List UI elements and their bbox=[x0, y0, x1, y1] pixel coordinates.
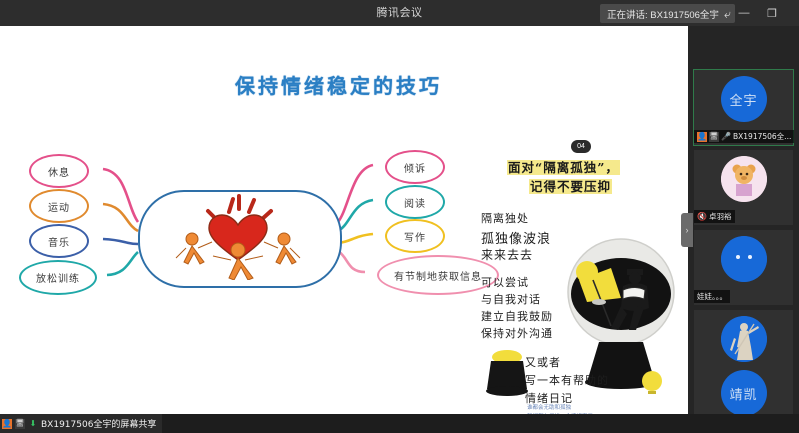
article-note-line0: 谁都会无助和孤独 bbox=[527, 404, 571, 412]
participant-tile-1[interactable]: 🔇 卓羽裕 bbox=[694, 150, 793, 225]
branch-label: 倾诉 bbox=[404, 160, 426, 175]
avatar bbox=[721, 236, 767, 282]
avatar bbox=[721, 156, 767, 202]
minimize-button[interactable]: — bbox=[731, 0, 757, 26]
participant-nametag: 👤 🖥 🎤 BX1917506全... bbox=[694, 130, 794, 143]
article-block1-line1: 孤独像波浪 bbox=[481, 228, 551, 247]
mindmap-slide: 保持情绪稳定的技巧 bbox=[7, 32, 681, 408]
taskbar-share-item[interactable]: 👤 🖥 ⬇ BX1917506全宇的屏幕共享 bbox=[0, 414, 162, 433]
participants-sidebar: 全宇 👤 🖥 🎤 BX1917506全... bbox=[688, 26, 799, 414]
small-bulb-icon bbox=[641, 370, 663, 396]
participant-tile-0[interactable]: 全宇 👤 🖥 🎤 BX1917506全... bbox=[694, 70, 793, 145]
reply-arrow-icon[interactable]: ⤷ bbox=[724, 8, 731, 20]
branch-label: 写作 bbox=[404, 229, 426, 244]
speaking-label: 正在讲话: BX1917506全宇 bbox=[607, 7, 719, 21]
chevron-right-icon: › bbox=[686, 225, 689, 235]
avatar: 靖凯 bbox=[721, 370, 767, 416]
participant-nametag: 娃娃。。。 bbox=[694, 290, 730, 303]
participant-tile-2[interactable]: 娃娃。。。 bbox=[694, 230, 793, 305]
branch-bubble-left-0[interactable]: 休息 bbox=[29, 154, 89, 188]
branch-bubble-right-2[interactable]: 写作 bbox=[385, 219, 445, 253]
face-avatar-icon bbox=[721, 236, 767, 282]
branch-bubble-left-1[interactable]: 运动 bbox=[29, 189, 89, 223]
avatar: 全宇 bbox=[721, 76, 767, 122]
participant-nametag: 🔇 卓羽裕 bbox=[694, 210, 735, 223]
small-lamp-icon bbox=[483, 347, 531, 399]
tencent-meeting-window: 腾讯会议 正在讲话: BX1917506全宇 ⤷ — ❐ 保持情绪稳定的技巧 bbox=[0, 0, 799, 433]
host-icon: 👤 bbox=[697, 132, 707, 142]
article-block3-line0: 又或者 bbox=[525, 354, 561, 370]
branch-label: 有节制地获取信息 bbox=[394, 268, 482, 283]
speaking-indicator[interactable]: 正在讲话: BX1917506全宇 ⤷ bbox=[600, 4, 735, 23]
branch-bubble-right-1[interactable]: 阅读 bbox=[385, 185, 445, 219]
mic-off-icon: 🔇 bbox=[697, 212, 707, 222]
participant-name: 娃娃。。。 bbox=[697, 291, 727, 302]
shared-screen-stage: 保持情绪稳定的技巧 bbox=[0, 26, 688, 414]
avatar bbox=[721, 316, 767, 362]
statue-avatar-icon bbox=[721, 316, 767, 362]
branch-bubble-right-0[interactable]: 倾诉 bbox=[385, 150, 445, 184]
participant-name: BX1917506全... bbox=[733, 131, 791, 142]
branch-label: 休息 bbox=[48, 164, 70, 179]
taskbar: 👤 🖥 ⬇ BX1917506全宇的屏幕共享 bbox=[0, 414, 799, 433]
slide-title: 保持情绪稳定的技巧 bbox=[235, 70, 442, 99]
article-badge: 04 bbox=[571, 140, 591, 153]
screen-icon: 🖥 bbox=[15, 419, 25, 429]
bear-avatar-icon bbox=[721, 156, 767, 202]
taskbar-app-label: BX1917506全宇的屏幕共享 bbox=[41, 417, 156, 430]
download-icon: ⬇ bbox=[28, 419, 38, 429]
branch-label: 音乐 bbox=[48, 234, 70, 249]
article-block3-line1: 写一本有帮助的 bbox=[525, 372, 609, 388]
screen-share-icon: 🖥 bbox=[709, 132, 719, 142]
branch-label: 放松训练 bbox=[36, 270, 80, 285]
branch-bubble-left-2[interactable]: 音乐 bbox=[29, 224, 89, 258]
article-headline-line2: 记得不要压抑 bbox=[529, 176, 612, 195]
branch-label: 阅读 bbox=[404, 195, 426, 210]
article-illustration-panel: 04 面对“隔离孤独”， 记得不要压抑 bbox=[477, 132, 677, 412]
article-block1-line2: 来来去去 bbox=[481, 246, 533, 263]
participant-name: 卓羽裕 bbox=[709, 211, 732, 222]
article-block2-line3: 保持对外沟通 bbox=[481, 325, 553, 341]
article-block2-line2: 建立自我鼓励 bbox=[481, 308, 553, 324]
heart-with-people-icon bbox=[159, 194, 317, 280]
title-bar: 腾讯会议 正在讲话: BX1917506全宇 ⤷ — ❐ bbox=[0, 0, 799, 26]
maximize-button[interactable]: ❐ bbox=[759, 0, 785, 26]
sidebar-collapse-handle[interactable]: › bbox=[681, 213, 693, 247]
branch-label: 运动 bbox=[48, 199, 70, 214]
article-block2-line0: 可以尝试 bbox=[481, 274, 529, 290]
article-block2-line1: 与自我对话 bbox=[481, 291, 541, 307]
mic-on-icon: 🎤 bbox=[721, 132, 731, 142]
snow-globe-person-reading-icon bbox=[565, 206, 677, 391]
article-block1-line0: 隔离独处 bbox=[481, 210, 529, 226]
person-icon: 👤 bbox=[2, 419, 12, 429]
article-headline-line1: 面对“隔离孤独”， bbox=[507, 157, 620, 176]
branch-bubble-left-3[interactable]: 放松训练 bbox=[19, 260, 97, 295]
